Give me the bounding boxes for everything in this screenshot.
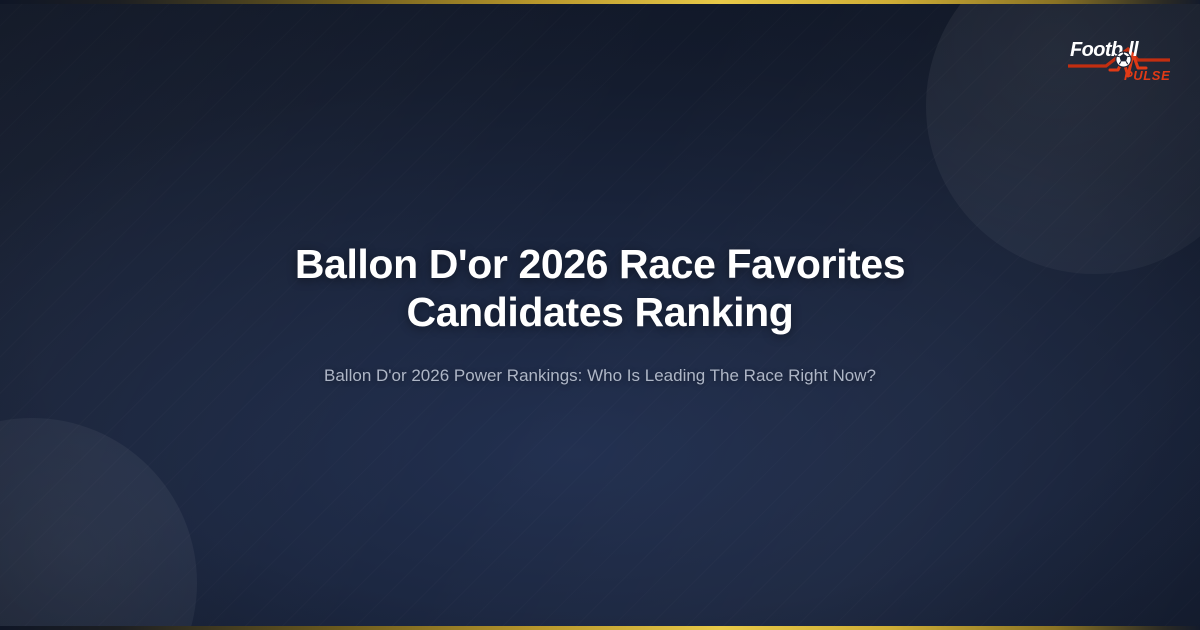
page-subtitle: Ballon D'or 2026 Power Rankings: Who Is … (324, 364, 876, 389)
page-title: Ballon D'or 2026 Race Favorites Candidat… (200, 241, 1000, 336)
soccer-ball-icon (1116, 52, 1131, 67)
bottom-accent-bar (0, 626, 1200, 630)
top-accent-bar (0, 0, 1200, 4)
top-accent-bar-fill (0, 0, 1200, 4)
football-pulse-logo[interactable]: Footb ll PULSE (1066, 32, 1172, 84)
card-content: Ballon D'or 2026 Race Favorites Candidat… (0, 0, 1200, 630)
og-share-card: Footb ll PULSE Ballon D'or 2026 Race Fav… (0, 0, 1200, 630)
bottom-accent-bar-fill (0, 626, 1200, 630)
svg-text:PULSE: PULSE (1124, 68, 1170, 83)
svg-text:Footb: Footb (1070, 39, 1123, 61)
